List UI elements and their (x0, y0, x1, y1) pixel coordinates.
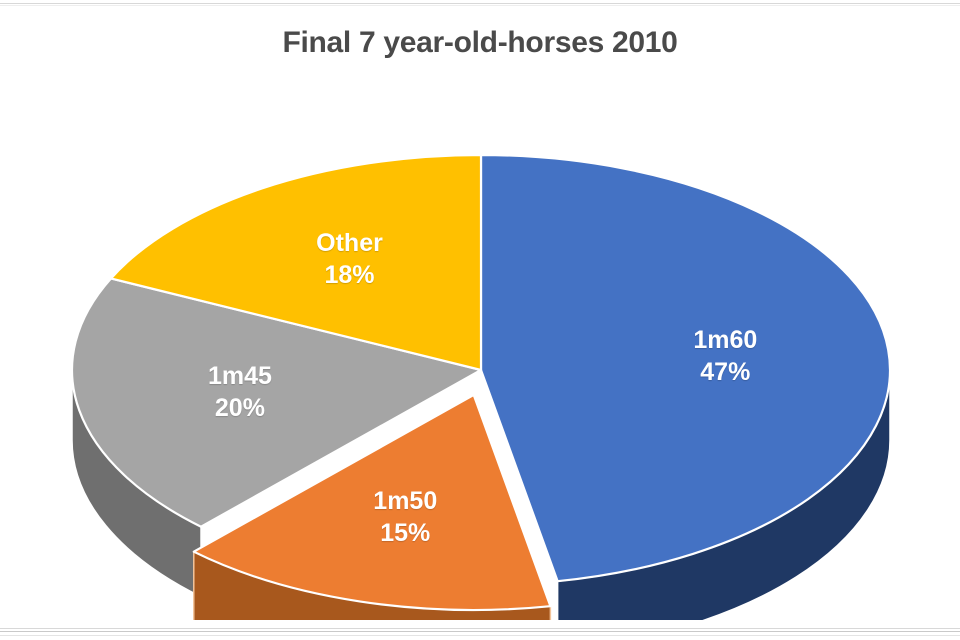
bottom-border-rule (0, 628, 960, 629)
pie-chart-svg (0, 80, 960, 620)
top-border-rule (0, 3, 960, 4)
chart-title: Final 7 year-old-horses 2010 (0, 26, 960, 60)
bottom-border-rule-3 (0, 635, 960, 636)
pie-chart-plot-area: 1m60 47% 1m50 15% 1m45 20% Other 18% (0, 80, 960, 620)
bottom-border-rule-2 (0, 631, 960, 632)
top-border-rule-2 (0, 5, 960, 6)
chart-canvas: Final 7 year-old-horses 2010 1m60 47% 1m… (0, 0, 960, 640)
